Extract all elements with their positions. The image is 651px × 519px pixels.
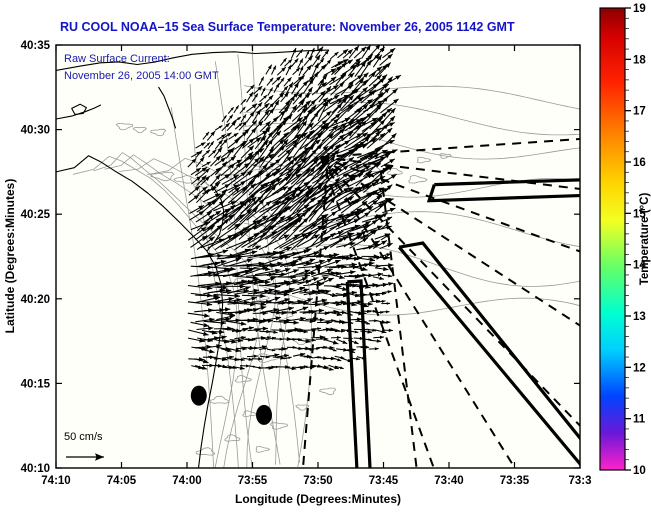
x-tick-label: 74:00 bbox=[172, 475, 201, 487]
x-tick-label: 73:55 bbox=[238, 475, 268, 487]
annotation-line2: November 26, 2005 14:00 GMT bbox=[64, 70, 219, 82]
station-marker bbox=[191, 386, 207, 406]
y-tick-label: 40:20 bbox=[21, 294, 50, 306]
colorbar-tick-label: 17 bbox=[633, 106, 646, 118]
x-axis-title: Longitude (Degrees:Minutes) bbox=[235, 492, 401, 506]
x-tick-label: 73:50 bbox=[303, 475, 332, 487]
x-tick-label: 73:40 bbox=[434, 475, 463, 487]
sst-current-map-figure: RU COOL NOAA–15 Sea Surface Temperature:… bbox=[0, 0, 651, 519]
y-axis-title: Latitude (Degrees:Minutes) bbox=[3, 179, 17, 334]
figure-root: RU COOL NOAA–15 Sea Surface Temperature:… bbox=[0, 0, 651, 519]
colorbar-tick-label: 11 bbox=[633, 414, 646, 426]
x-tick-label: 73:35 bbox=[500, 475, 530, 487]
y-tick-label: 40:35 bbox=[21, 40, 51, 52]
y-tick-label: 40:25 bbox=[21, 209, 51, 221]
colorbar-title: Temperature (°C) bbox=[639, 193, 651, 286]
colorbar-tick-label: 19 bbox=[633, 3, 646, 15]
y-tick-label: 40:30 bbox=[21, 125, 50, 137]
colorbar-tick-label: 16 bbox=[633, 157, 646, 169]
colorbar-tick-label: 13 bbox=[633, 311, 646, 323]
station-marker bbox=[256, 405, 272, 425]
page-title: RU COOL NOAA–15 Sea Surface Temperature:… bbox=[60, 20, 515, 34]
scale-legend-label: 50 cm/s bbox=[64, 431, 103, 443]
colorbar-gradient bbox=[600, 8, 625, 470]
colorbar-tick-label: 12 bbox=[633, 362, 646, 374]
colorbar-tick-label: 18 bbox=[633, 54, 646, 66]
y-tick-label: 40:15 bbox=[21, 378, 51, 390]
y-tick-label: 40:10 bbox=[21, 463, 50, 475]
x-tick-label: 73:45 bbox=[369, 475, 399, 487]
colorbar-tick-label: 10 bbox=[633, 465, 646, 477]
x-tick-label: 73:3 bbox=[568, 475, 591, 487]
x-tick-label: 74:05 bbox=[107, 475, 137, 487]
x-tick-label: 74:10 bbox=[41, 475, 70, 487]
annotation-line1: Raw Surface Current: bbox=[64, 53, 170, 65]
